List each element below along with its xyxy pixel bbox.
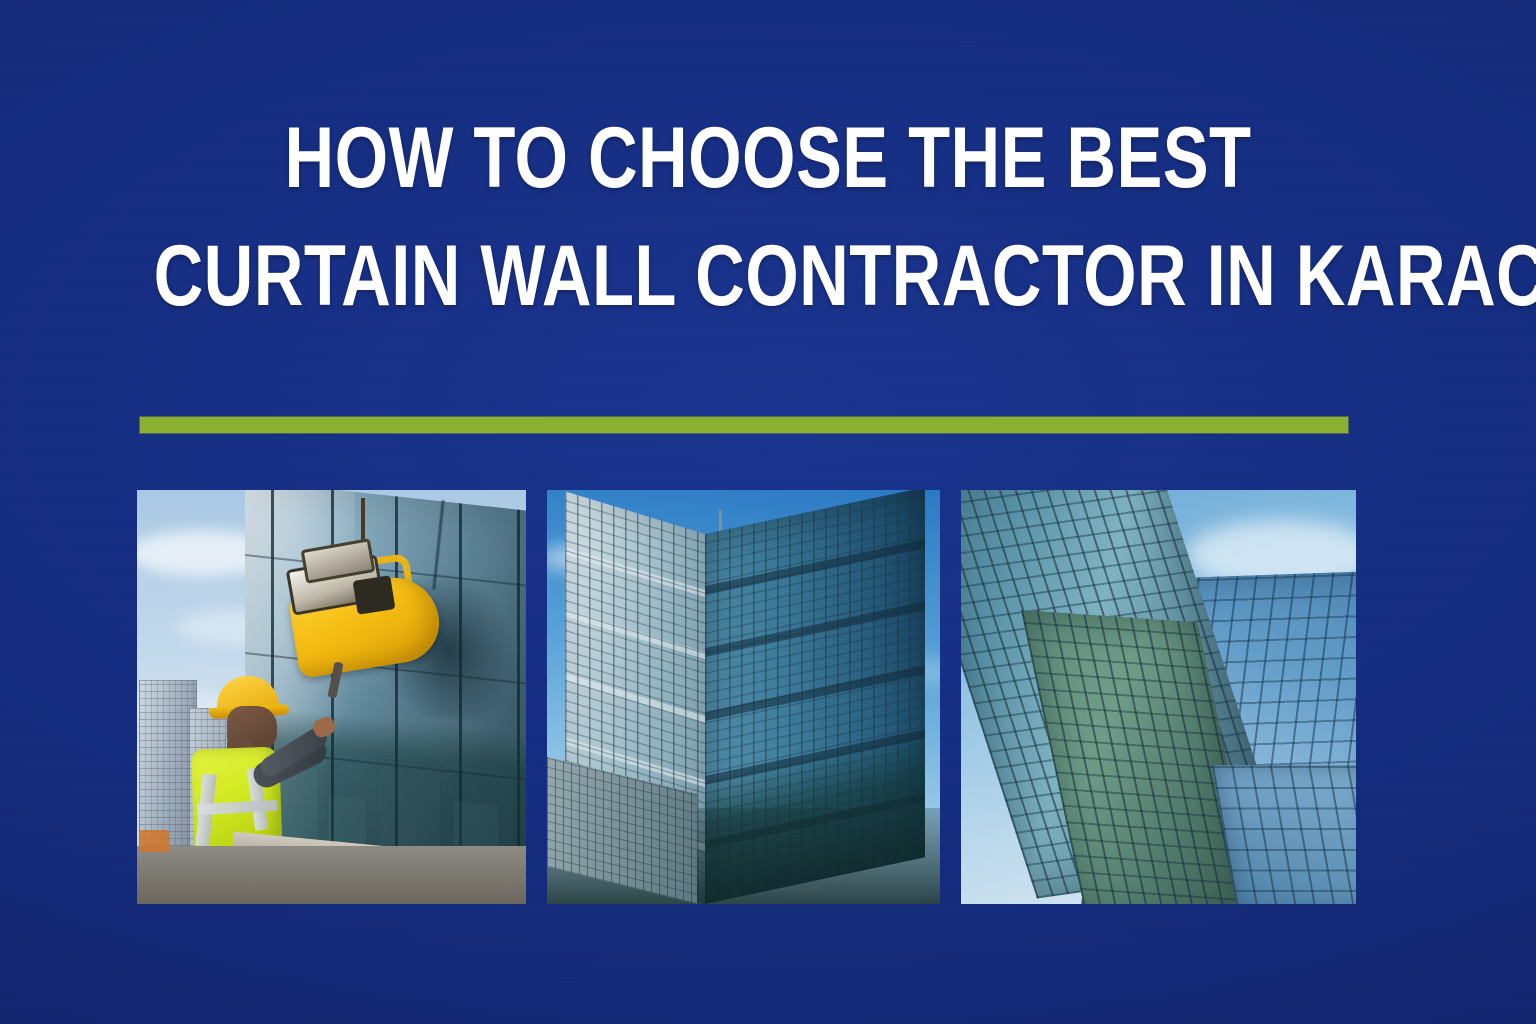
photo-3-scene [961,490,1356,904]
vacuum-glass-lifter [285,538,453,688]
divider [140,417,1348,433]
headline-line-1: HOW TO CHOOSE THE BEST [154,112,1383,204]
construction-ground [137,846,526,904]
gallery-image-glass-office-building [547,490,940,904]
spandrel-band [705,665,925,721]
glass-tower-background [1212,765,1356,904]
lifter-cavity [353,575,396,615]
photo-2-scene [547,490,940,904]
page-title: HOW TO CHOOSE THE BEST CURTAIN WALL CONT… [0,112,1536,322]
photo-1-scene [137,490,526,904]
gallery-image-worker-installing-glass [137,490,526,904]
gallery-image-glass-towers-low-angle [961,490,1356,904]
spandrel-band [565,673,705,723]
image-gallery [137,490,1356,904]
headline-line-2: CURTAIN WALL CONTRACTOR IN KARACHI [154,230,1383,322]
spandrel-band [705,539,925,595]
spandrel-band [705,601,925,657]
site-equipment [139,830,169,852]
spandrel-band [565,547,705,597]
green-accent-bar [140,417,1348,433]
spandrel-band [565,609,705,659]
